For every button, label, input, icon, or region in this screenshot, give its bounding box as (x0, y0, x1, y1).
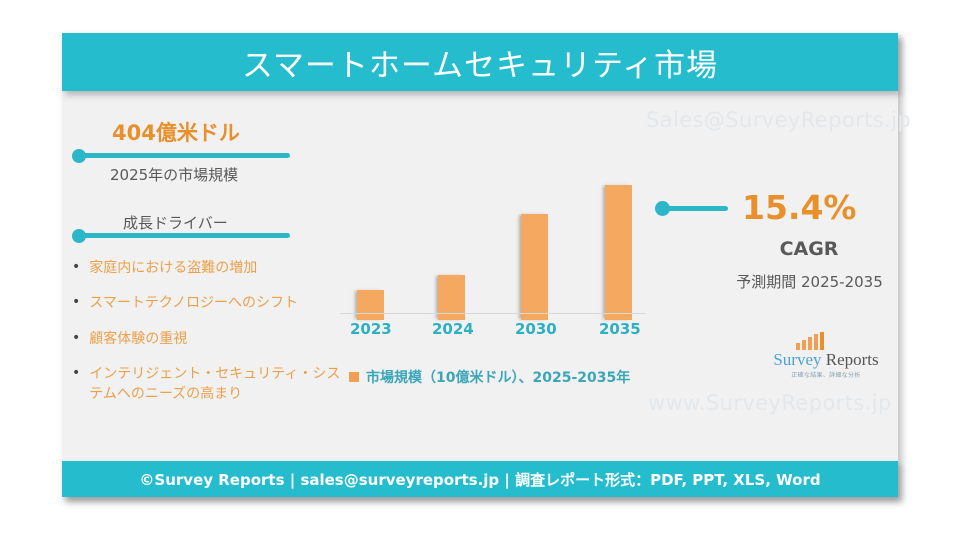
bullet-point-icon: • (72, 293, 80, 312)
cagr-label: CAGR (744, 238, 874, 260)
list-item: • 家庭内における盗難の増加 (72, 258, 352, 278)
market-value-caption: 2025年の市場規模 (110, 164, 238, 185)
footer-text: ©Survey Reports | sales@surveyreports.jp… (139, 469, 820, 490)
divider-rule-2 (80, 233, 290, 238)
title-banner: スマートホームセキュリティ市場 (62, 33, 898, 91)
bar-2030 (521, 214, 548, 320)
x-tick-2024: 2024 (432, 320, 474, 338)
infographic-page: スマートホームセキュリティ市場 Sales@SurveyReports.jp w… (0, 0, 960, 540)
list-item: • スマートテクノロジーへのシフト (72, 293, 352, 313)
bullet-point-icon: • (72, 258, 80, 277)
x-tick-2023: 2023 (350, 320, 392, 338)
watermark-top: Sales@SurveyReports.jp (646, 108, 911, 132)
x-tick-2035: 2035 (599, 320, 641, 338)
chart-x-axis (340, 313, 646, 314)
logo-bars-icon (796, 332, 824, 350)
watermark-bottom: www.SurveyReports.jp (648, 391, 892, 415)
bar-2035 (605, 185, 632, 320)
list-item-label: スマートテクノロジーへのシフト (89, 293, 352, 313)
chart-x-tick-labels: 2023 2024 2030 2035 (340, 320, 650, 342)
market-value: 404億米ドル (112, 117, 372, 147)
legend-swatch-icon (349, 372, 359, 382)
drivers-heading: 成長ドライバー (123, 212, 228, 233)
cagr-value: 15.4% (742, 188, 857, 227)
cagr-connector-rule (664, 206, 728, 211)
logo-word-reports: Reports (822, 350, 879, 369)
list-item-label: インテリジェント・セキュリティ・システムへのニーズの高まり (89, 364, 352, 405)
cagr-period: 予測期間 2025-2035 (722, 271, 897, 292)
list-item: • インテリジェント・セキュリティ・システムへのニーズの高まり (72, 364, 352, 405)
footer-banner: ©Survey Reports | sales@surveyreports.jp… (62, 461, 898, 497)
x-tick-2030: 2030 (515, 320, 557, 338)
logo-word-survey: Survey (773, 350, 821, 369)
bar-chart-plot-area (340, 160, 650, 320)
growth-drivers-list: • 家庭内における盗難の増加 • スマートテクノロジーへのシフト • 顧客体験の… (72, 258, 352, 419)
legend-label: 市場規模（10億米ドル）、2025-2035年 (366, 367, 630, 387)
divider-rule-1 (80, 153, 290, 158)
bullet-point-icon: • (72, 329, 80, 348)
list-item-label: 顧客体験の重視 (89, 329, 352, 349)
list-item: • 顧客体験の重視 (72, 329, 352, 349)
page-title: スマートホームセキュリティ市場 (242, 40, 718, 85)
brand-logo: Survey Reports 正確な結果、詳細な分析 (760, 332, 892, 382)
logo-wordmark: Survey Reports (760, 350, 892, 370)
logo-tagline: 正確な結果、詳細な分析 (760, 370, 892, 379)
bullet-point-icon: • (72, 364, 80, 383)
bar-2023 (357, 290, 384, 320)
list-item-label: 家庭内における盗難の増加 (89, 258, 352, 278)
chart-legend: 市場規模（10億米ドル）、2025-2035年 (349, 367, 630, 387)
